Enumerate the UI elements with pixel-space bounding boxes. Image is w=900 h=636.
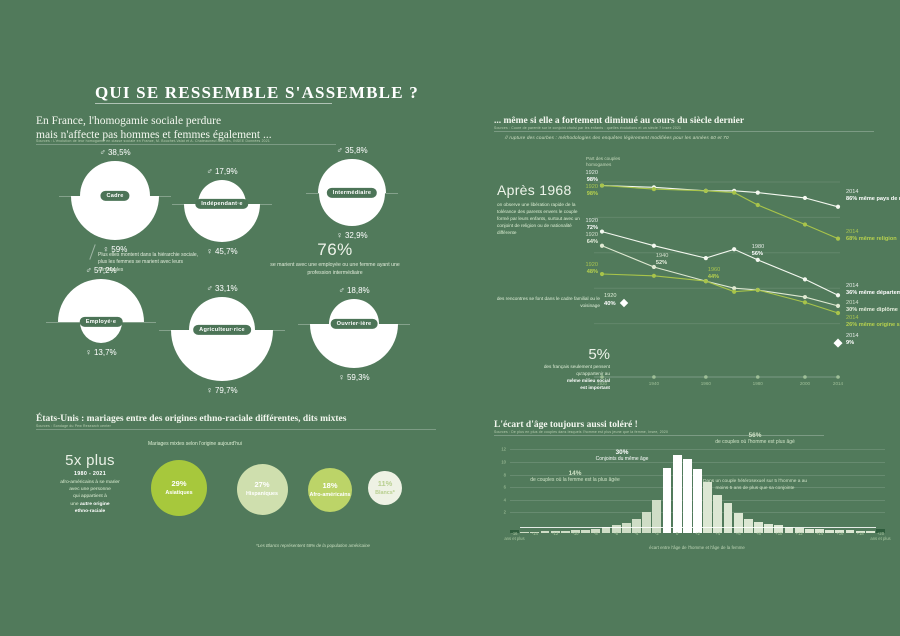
france-source-rule bbox=[36, 144, 336, 145]
csp-female-half bbox=[310, 324, 397, 368]
histogram-bar bbox=[764, 524, 773, 533]
siecle-source-rule bbox=[494, 131, 874, 132]
histogram-bar bbox=[561, 531, 570, 533]
histogram-bar bbox=[642, 512, 651, 533]
line-point bbox=[652, 244, 656, 248]
histogram-xtick: +6 bbox=[736, 531, 741, 536]
histogram-xtick: +20ans et plus bbox=[870, 531, 890, 542]
linechart-xtick: 1940 bbox=[649, 381, 659, 386]
histogram-axis-line bbox=[520, 527, 876, 528]
line-point bbox=[803, 300, 807, 304]
csp-male-value: ♂ 38,5% bbox=[99, 147, 130, 157]
histogram-xtick: +16 bbox=[836, 531, 843, 536]
line-point-standalone bbox=[833, 339, 842, 348]
line-point bbox=[600, 244, 604, 248]
fivex-text-1: afro-américains à se marier bbox=[60, 480, 120, 485]
fivex-text-2: avec une personne bbox=[69, 487, 111, 492]
line-point bbox=[704, 256, 708, 260]
us-circle-pct: 18% bbox=[322, 481, 337, 491]
highlight-76-text: se marient avec une employée ou une femm… bbox=[270, 262, 400, 277]
csp-female-half bbox=[71, 196, 158, 240]
histogram-xtick: -16ans et plus bbox=[504, 531, 524, 542]
line-point bbox=[836, 311, 840, 315]
csp-label-pill: Indépendant·e bbox=[195, 199, 248, 209]
ecart-left-text: de couples où la femme est la plus âgée bbox=[530, 477, 620, 483]
us-circle-afro-am-ricains[interactable]: 18%Afro-américains bbox=[308, 468, 352, 512]
histogram-xtick: +12 bbox=[796, 531, 803, 536]
line-point bbox=[836, 304, 840, 308]
linechart-mid-diplome: 194052% bbox=[656, 253, 668, 267]
histogram-xtick: -6 bbox=[614, 531, 618, 536]
csp-female-value: ♀ 13,7% bbox=[85, 347, 116, 357]
histogram-bar bbox=[541, 531, 550, 533]
line-point bbox=[803, 277, 807, 281]
rencontres-text: des rencontres se font dans le cadre fam… bbox=[490, 295, 600, 309]
linechart-start-departement: 192072% bbox=[586, 218, 598, 232]
csp-label-pill: Employé·e bbox=[80, 317, 123, 327]
histogram-ytick: 2 bbox=[504, 510, 506, 515]
fivex-number: 5x plus bbox=[35, 452, 145, 469]
line-point bbox=[756, 203, 760, 207]
linechart-start-origine: 192048% bbox=[586, 262, 598, 276]
line-point bbox=[652, 187, 656, 191]
line-point bbox=[836, 237, 840, 241]
histogram-xtick: +14 bbox=[816, 531, 823, 536]
line-point bbox=[732, 290, 736, 294]
line-point bbox=[600, 183, 604, 187]
line-point bbox=[756, 288, 760, 292]
line-point bbox=[652, 274, 656, 278]
csp-female-value: ♀ 79,7% bbox=[206, 385, 237, 395]
line-series-1 bbox=[602, 186, 838, 239]
csp-female-value: ♀ 45,7% bbox=[206, 246, 237, 256]
histogram-bar bbox=[581, 530, 590, 533]
csp-label-pill: Cadre bbox=[100, 191, 129, 201]
csp-female-value: ♀ 32,9% bbox=[336, 230, 367, 240]
csp-male-value: ♂ 17,9% bbox=[206, 166, 237, 176]
csp-label-pill: Ouvrier·ière bbox=[331, 319, 378, 329]
line-point bbox=[732, 191, 736, 195]
five-percent-number: 5% bbox=[490, 346, 610, 363]
siecle-note: // rupture des courbes : méthodologies d… bbox=[505, 135, 729, 140]
histogram-xtick: +4 bbox=[715, 531, 720, 536]
histogram-xtick: -4 bbox=[635, 531, 639, 536]
us-circle-blancs[interactable]: 11%Blancs* bbox=[368, 471, 402, 505]
ecart-note: Dans un couple hétérosexuel sur 5 l'homm… bbox=[700, 478, 810, 492]
histogram-bar bbox=[663, 468, 672, 533]
histogram-xtick: +18 bbox=[857, 531, 864, 536]
title-underline bbox=[95, 103, 332, 104]
infographic-root: QUI SE RESSEMBLE S'ASSEMBLE ? En France,… bbox=[0, 0, 900, 636]
histogram-ytick: 12 bbox=[501, 447, 506, 452]
linechart-end-standalone: 20149% bbox=[846, 333, 858, 347]
histogram-x-caption: écart entre l'âge de l'homme et l'âge de… bbox=[649, 545, 745, 550]
linechart-xtick: 2014 bbox=[833, 381, 843, 386]
line-chart: 192019401960198020002014192098%192098%19… bbox=[594, 168, 890, 388]
histogram-ytick: 10 bbox=[501, 459, 506, 464]
etats-unis-footnote: *Les Blancs représentent 58% de la popul… bbox=[256, 543, 370, 548]
annotation-leader-line bbox=[89, 244, 95, 259]
line-point bbox=[803, 222, 807, 226]
line-point bbox=[836, 205, 840, 209]
linechart-end-departement: 201436% même département bbox=[846, 283, 900, 297]
ecart-right-pct: 56% bbox=[710, 432, 800, 439]
line-point bbox=[803, 295, 807, 299]
line-point bbox=[836, 293, 840, 297]
fivex-dates: 1980 - 2021 bbox=[35, 471, 145, 477]
linechart-annot-1980: 198056% bbox=[752, 244, 764, 258]
csp-label-pill: Intermédiaire bbox=[327, 188, 377, 198]
histogram-ytick: 6 bbox=[504, 485, 506, 490]
apres-1968-text: on observe une libération rapide de la t… bbox=[497, 201, 589, 236]
histogram-bar bbox=[846, 530, 855, 533]
histogram-xtick: 0 bbox=[676, 531, 678, 536]
histogram-xtick: +10 bbox=[775, 531, 782, 536]
linechart-end-religion: 201468% même religion bbox=[846, 229, 897, 243]
fivex-text-6: ethno-raciale bbox=[75, 509, 105, 514]
us-circle-hispaniques[interactable]: 27%Hispaniques bbox=[237, 464, 288, 515]
linechart-start-diplome: 192064% bbox=[586, 232, 598, 246]
csp-male-value: ♂ 18,8% bbox=[338, 285, 369, 295]
histogram-ytick: 4 bbox=[504, 497, 506, 502]
csp-male-value: ♂ 33,1% bbox=[206, 283, 237, 293]
us-circle-pct: 27% bbox=[254, 480, 269, 490]
histogram-gridline bbox=[510, 462, 885, 463]
linechart-end-origine: 201426% même origine sociale bbox=[846, 315, 900, 329]
histogram-xtick: -10 bbox=[572, 531, 578, 536]
highlight-76-number: 76% bbox=[270, 240, 400, 260]
linechart-end-diplome: 201430% même diplôme bbox=[846, 300, 898, 314]
linechart-mid-origine: 196044% bbox=[708, 267, 720, 281]
linechart-ylabel: Part des couples homogames bbox=[586, 156, 646, 168]
line-point bbox=[803, 196, 807, 200]
fivex-text-3: qui appartient à bbox=[73, 494, 107, 499]
csp-label-pill: Agriculteur·rice bbox=[193, 325, 251, 335]
france-annotation: Plus elles montent dans la hiérarchie so… bbox=[98, 252, 208, 274]
page-title: QUI SE RESSEMBLE S'ASSEMBLE ? bbox=[95, 83, 419, 103]
us-circle-label: Asiatiques bbox=[165, 489, 192, 497]
line-point bbox=[756, 191, 760, 195]
line-point bbox=[600, 272, 604, 276]
csp-female-half bbox=[171, 330, 272, 381]
histogram-bar bbox=[602, 527, 611, 533]
linechart-xtick: 2000 bbox=[800, 381, 810, 386]
us-circle-label: Afro-américains bbox=[309, 491, 350, 499]
line-series-2 bbox=[602, 232, 838, 296]
fivex-text-4: une bbox=[70, 502, 78, 507]
histogram-ytick: 8 bbox=[504, 472, 506, 477]
line-point bbox=[732, 247, 736, 251]
france-title-line1: En France, l'homogamie sociale perdure bbox=[36, 115, 221, 127]
histogram-xtick: +2 bbox=[695, 531, 700, 536]
line-series-0 bbox=[602, 186, 838, 207]
histogram-gridline bbox=[510, 449, 885, 450]
csp-male-half bbox=[58, 279, 144, 322]
histogram-xtick: +8 bbox=[756, 531, 761, 536]
histogram-xtick: -8 bbox=[594, 531, 598, 536]
us-circle-label: Hispaniques bbox=[246, 490, 278, 498]
line-point bbox=[704, 189, 708, 193]
histogram-bar bbox=[673, 455, 682, 533]
us-circle-pct: 11% bbox=[378, 479, 393, 489]
csp-female-value: ♀ 59,3% bbox=[338, 372, 369, 382]
histogram-bar bbox=[805, 529, 814, 533]
us-circle-pct: 29% bbox=[171, 479, 186, 489]
ecart-right-text: de couples où l'homme est plus âgé bbox=[715, 439, 795, 445]
histogram-bar bbox=[683, 459, 692, 533]
us-circle-label: Blancs* bbox=[375, 489, 395, 497]
us-circle-asiatiques[interactable]: 29%Asiatiques bbox=[151, 460, 207, 516]
csp-female-half bbox=[319, 193, 384, 226]
apres-1968-heading: Après 1968 bbox=[497, 182, 589, 198]
ecart-left-pct: 14% bbox=[530, 470, 620, 477]
linechart-start-pays: 192098% bbox=[586, 170, 598, 184]
etats-unis-source-rule bbox=[36, 429, 436, 430]
linechart-start-religion: 192098% bbox=[586, 184, 598, 198]
fivex-text-5: autre origine bbox=[80, 502, 110, 507]
histogram-xtick: -14 bbox=[532, 531, 538, 536]
linechart-xtick: 1920 bbox=[597, 381, 607, 386]
ecart-mid-pct: 30% bbox=[586, 449, 658, 456]
linechart-xtick: 1980 bbox=[753, 381, 763, 386]
line-point bbox=[756, 258, 760, 262]
histogram-bar bbox=[744, 519, 753, 534]
linechart-end-pays: 201486% même pays de naissance bbox=[846, 189, 900, 203]
csp-male-value: ♂ 35,8% bbox=[336, 145, 367, 155]
ecart-mid-text: Conjoints du même âge bbox=[596, 456, 649, 462]
histogram-xtick: -12 bbox=[552, 531, 558, 536]
csp-female-half bbox=[184, 204, 261, 242]
line-point bbox=[600, 229, 604, 233]
histogram-bar bbox=[724, 503, 733, 533]
age-gap-histogram: 24681012-16ans et plus-14-12-10-8-6-4-20… bbox=[510, 443, 885, 533]
mixed-marriages-caption: Mariages mixtes selon l'origine aujourd'… bbox=[148, 441, 242, 447]
linechart-xtick: 1960 bbox=[701, 381, 711, 386]
histogram-bar bbox=[652, 500, 661, 533]
histogram-xtick: -2 bbox=[655, 531, 659, 536]
histogram-bar bbox=[825, 530, 834, 533]
